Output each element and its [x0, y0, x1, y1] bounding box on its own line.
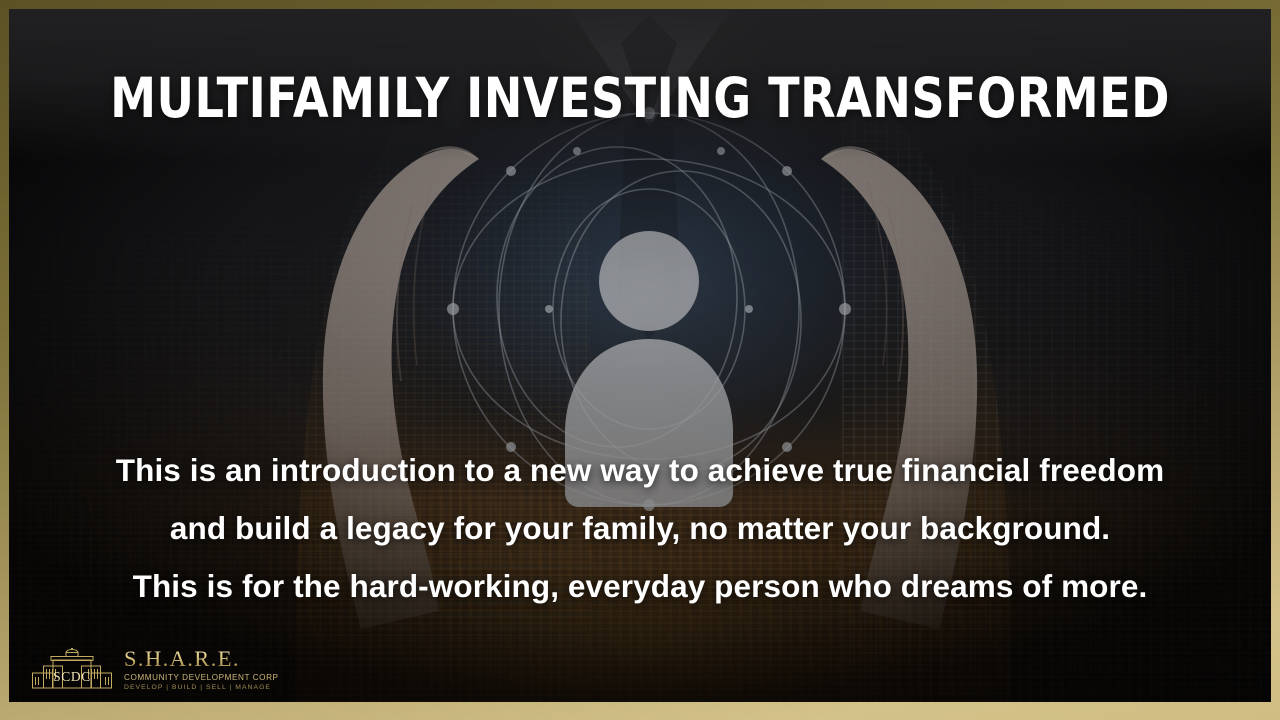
body-line-1: This is an introduction to a new way to …	[9, 441, 1271, 499]
slide-canvas: MULTIFAMILY INVESTING TRANSFORMED This i…	[9, 9, 1271, 702]
body-copy: This is an introduction to a new way to …	[9, 441, 1271, 615]
share-brand-text: S.H.A.R.E.	[124, 648, 279, 671]
share-wordmark: S.H.A.R.E. COMMUNITY DEVELOPMENT CORP DE…	[124, 648, 279, 692]
body-line-2: and build a legacy for your family, no m…	[9, 499, 1271, 557]
logo-lockup: SCDC S.H.A.R.E. COMMUNITY DEVELOPMENT CO…	[31, 648, 279, 692]
body-line-3: This is for the hard-working, everyday p…	[9, 557, 1271, 615]
scdc-building-emblem-icon: SCDC	[31, 648, 113, 692]
page-title: MULTIFAMILY INVESTING TRANSFORMED	[110, 71, 1170, 126]
scdc-emblem-text: SCDC	[53, 669, 91, 684]
share-corp-text: COMMUNITY DEVELOPMENT CORP	[124, 674, 279, 682]
share-services-text: DEVELOP | BUILD | SELL | MANAGE	[124, 685, 279, 692]
slide-frame: MULTIFAMILY INVESTING TRANSFORMED This i…	[0, 0, 1280, 720]
